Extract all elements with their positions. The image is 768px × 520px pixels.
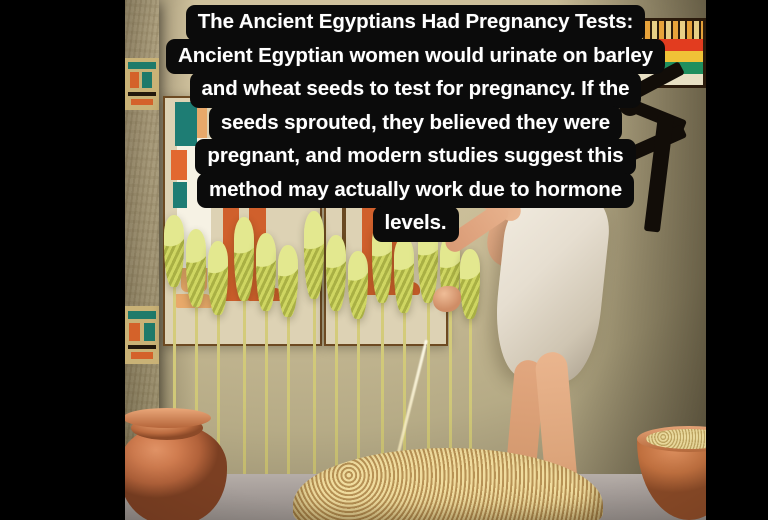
letterbox-bar-left [0, 0, 125, 520]
painted-gold-ornament [410, 160, 419, 184]
painted-figure-2-kilt [217, 144, 271, 200]
terracotta-jar [125, 404, 227, 520]
letterbox-bar-right [706, 0, 768, 520]
column-band-upper [125, 58, 159, 110]
painted-collar-teal-2 [173, 182, 187, 208]
column-band-lower [125, 306, 159, 364]
frieze-stripes [617, 21, 703, 39]
painted-collar-orange [171, 150, 187, 180]
black-ribbon [617, 74, 697, 234]
painted-collar-teal [175, 102, 197, 146]
painted-figure-3-arm [358, 98, 390, 150]
woman-hand [433, 286, 461, 312]
terracotta-bowl [637, 418, 706, 520]
video-frame[interactable]: The Ancient Egyptians Had Pregnancy Test… [125, 0, 706, 520]
screenshot-root: The Ancient Egyptians Had Pregnancy Test… [0, 0, 768, 520]
